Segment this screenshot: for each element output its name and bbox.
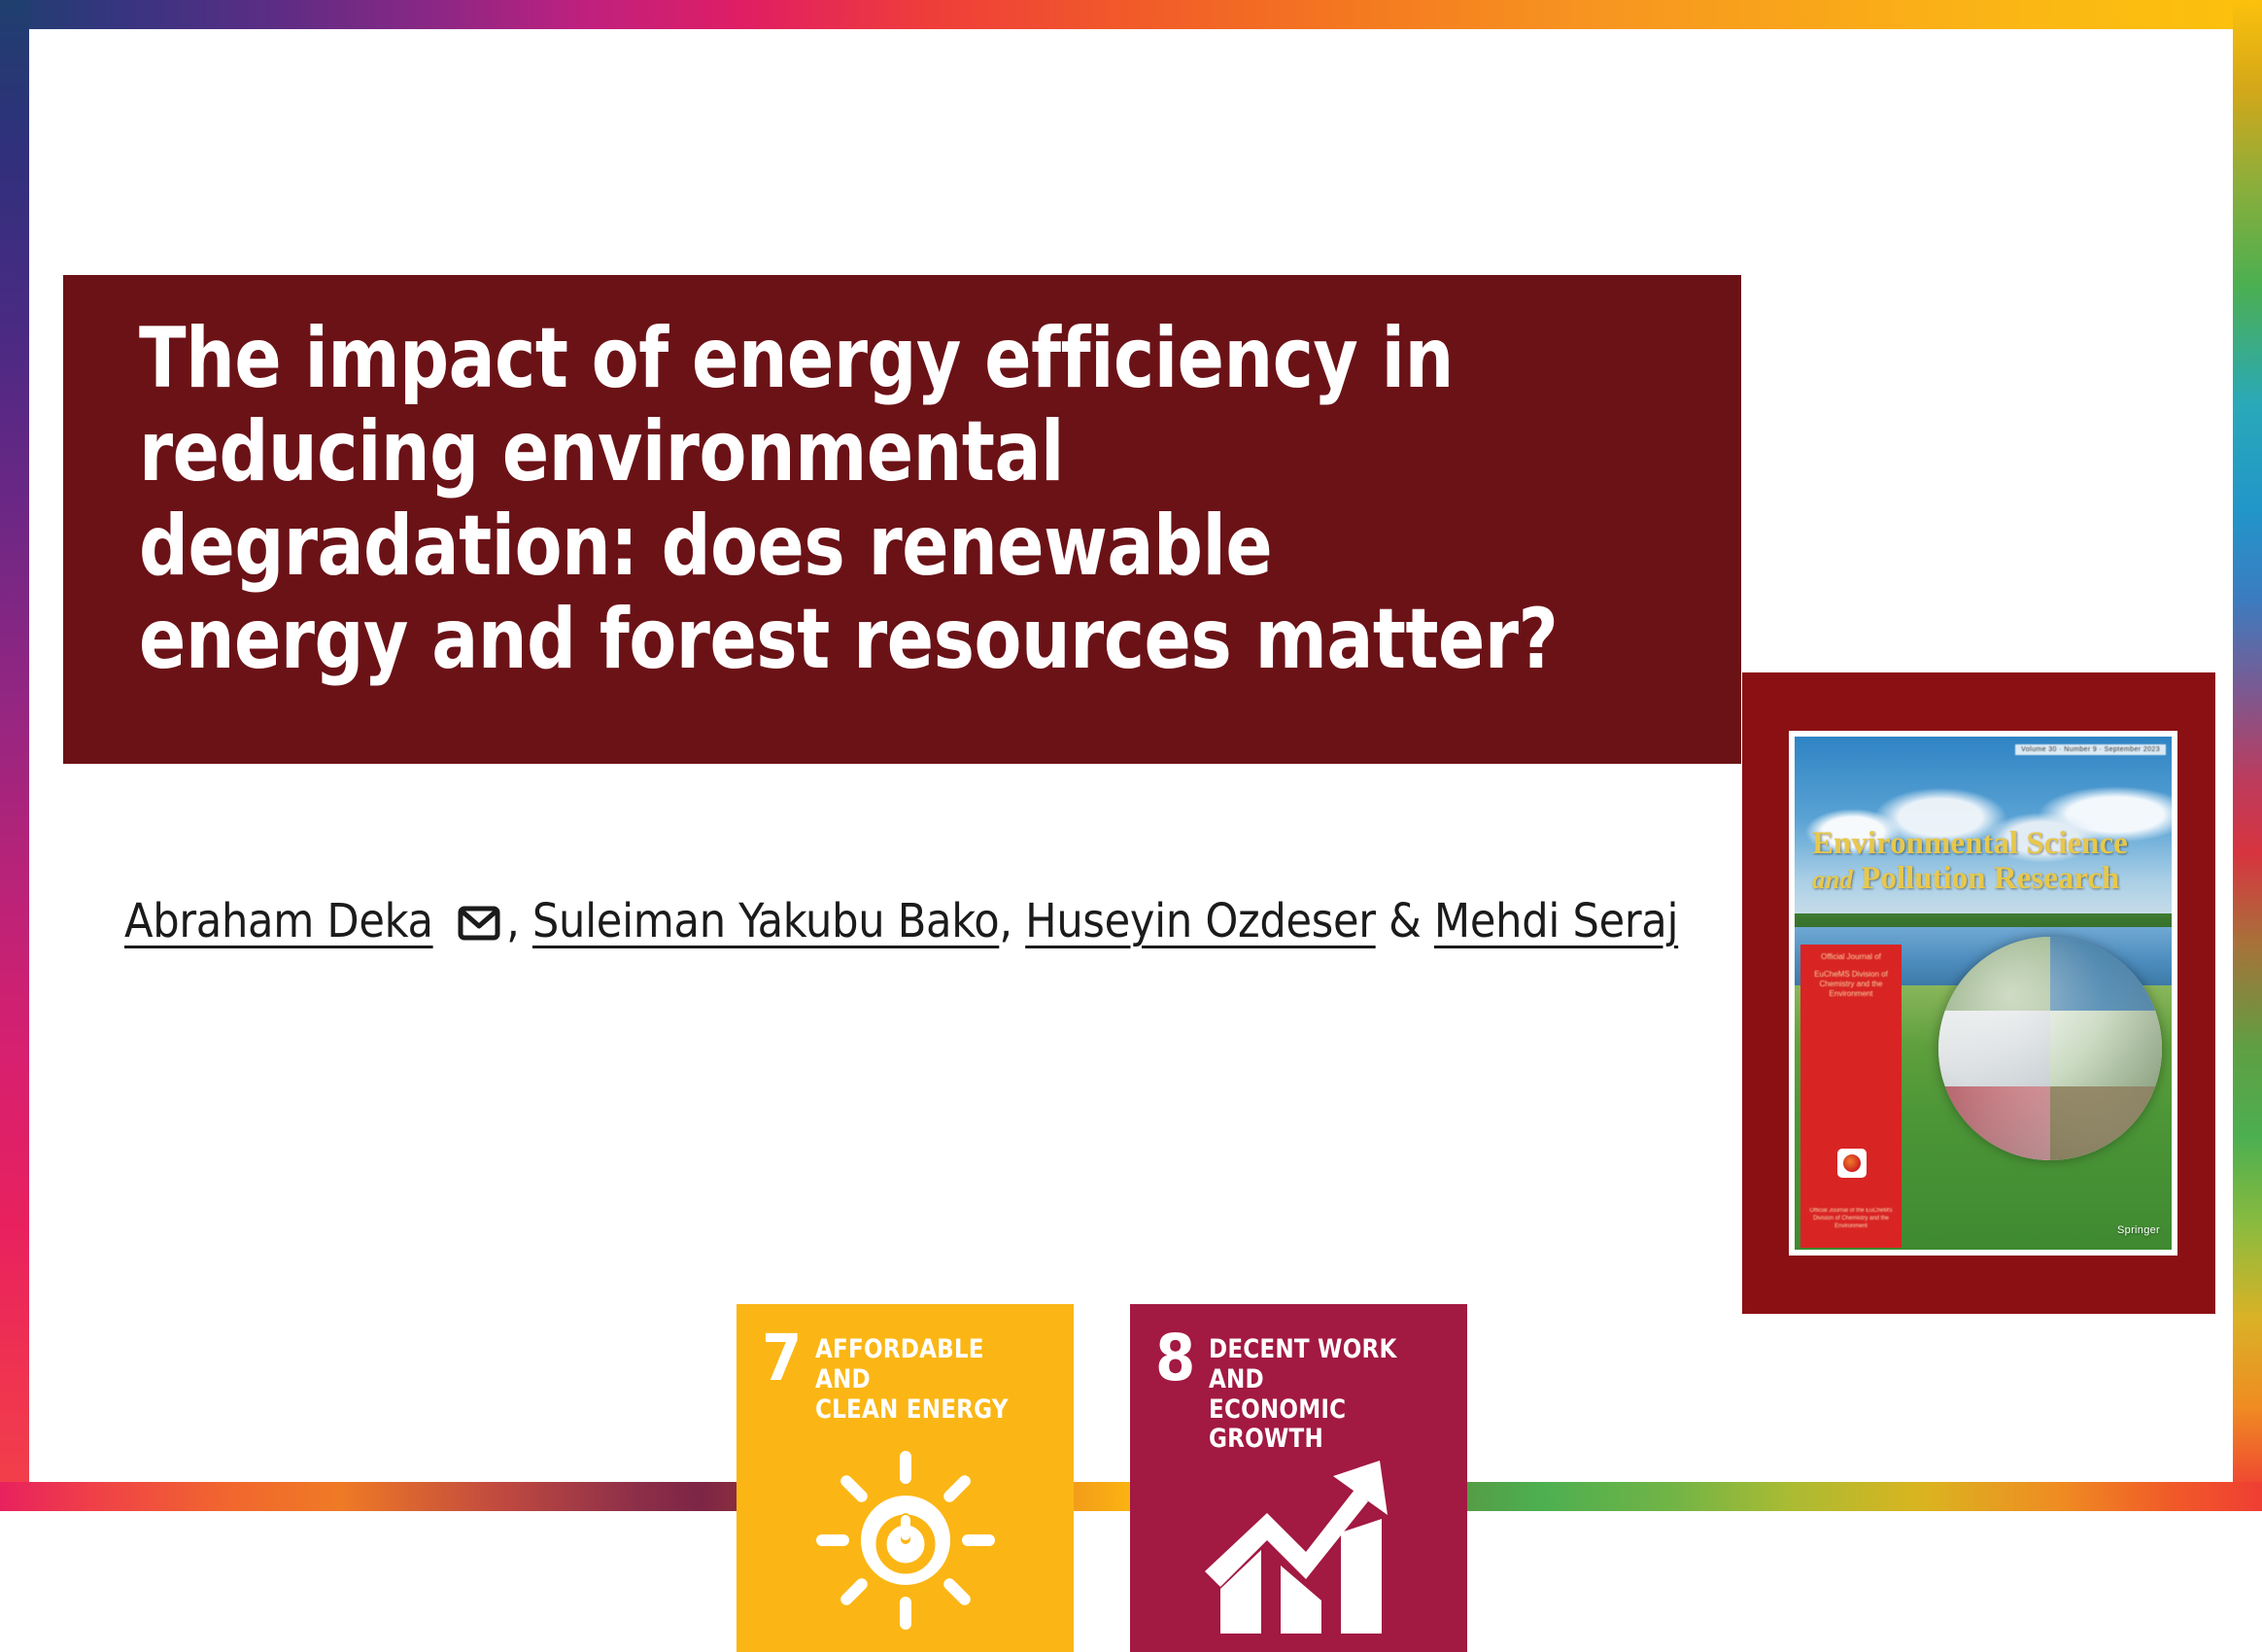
author-list: Abraham Deka , Suleiman Yakubu Bako, Hus… [124, 894, 1678, 952]
border-right-gradient [2233, 0, 2262, 1497]
journal-title: Environmental Science and Pollution Rese… [1812, 826, 2166, 897]
sdg-8-icon-wrap [1130, 1443, 1467, 1642]
author-separator-3: & [1376, 894, 1434, 948]
sdg-7-icon-wrap [737, 1443, 1074, 1642]
paper-title-block: The impact of energy efficiency in reduc… [63, 275, 1741, 764]
author-separator-1: , [506, 894, 532, 948]
sdg-8-label: DECENT WORK AND ECONOMIC GROWTH [1209, 1331, 1437, 1455]
journal-cover-sidebar: Official Journal of EuCheMS Division of … [1800, 945, 1902, 1248]
sun-power-icon [808, 1443, 1003, 1642]
sdg-8-label-line-1: DECENT WORK AND [1209, 1335, 1437, 1395]
journal-title-line-2: Pollution Research [1861, 861, 2119, 896]
cover-sphere-collage [1938, 937, 2162, 1160]
journal-title-line-1: Environmental Science [1812, 826, 2128, 861]
sdg-7-header: 7 AFFORDABLE AND CLEAN ENERGY [737, 1304, 1074, 1425]
author-name-3[interactable]: Huseyin Ozdeser [1025, 894, 1376, 948]
journal-cover-image: Volume 30 · Number 9 · September 2023 En… [1789, 731, 2177, 1256]
journal-sidebar-subheading: EuCheMS Division of Chemistry and the En… [1800, 962, 1902, 999]
author-name-1[interactable]: Abraham Deka [124, 894, 433, 948]
sdg-8-number: 8 [1155, 1331, 1195, 1386]
author-separator-2: , [999, 894, 1025, 948]
journal-cover-artwork: Volume 30 · Number 9 · September 2023 En… [1795, 737, 2172, 1250]
slide-root: The impact of energy efficiency in reduc… [0, 0, 2262, 1652]
journal-sidebar-heading: Official Journal of [1800, 945, 1902, 962]
sdg-7-label: AFFORDABLE AND CLEAN ENERGY [815, 1331, 1044, 1425]
envelope-icon[interactable] [458, 898, 500, 952]
growth-chart-arrow-icon [1197, 1443, 1401, 1642]
sdg-goal-8-tile[interactable]: 8 DECENT WORK AND ECONOMIC GROWTH [1130, 1304, 1467, 1652]
border-left-gradient [0, 0, 29, 1497]
springer-logo: Springer [2117, 1224, 2160, 1236]
journal-cover-panel: Volume 30 · Number 9 · September 2023 En… [1742, 672, 2215, 1314]
border-top-gradient [0, 0, 2262, 29]
author-name-4[interactable]: Mehdi Seraj [1434, 894, 1678, 948]
sphere-gloss [1938, 937, 2162, 1160]
author-name-2[interactable]: Suleiman Yakubu Bako [532, 894, 999, 948]
sdg-8-header: 8 DECENT WORK AND ECONOMIC GROWTH [1130, 1304, 1467, 1455]
journal-title-and: and [1812, 865, 1853, 894]
euchems-logo-icon [1837, 1149, 1867, 1178]
sdg-7-label-line-2: CLEAN ENERGY [815, 1395, 1044, 1426]
journal-sidebar-footer: Official Journal of the EuCheMS Division… [1804, 1207, 1898, 1230]
sdg-goal-7-tile[interactable]: 7 AFFORDABLE AND CLEAN ENERGY [737, 1304, 1074, 1652]
sdg-7-number: 7 [762, 1331, 802, 1386]
page-title: The impact of energy efficiency in reduc… [139, 312, 1559, 686]
journal-issue-line: Volume 30 · Number 9 · September 2023 [2015, 744, 2166, 755]
sdg-7-label-line-1: AFFORDABLE AND [815, 1335, 1044, 1395]
